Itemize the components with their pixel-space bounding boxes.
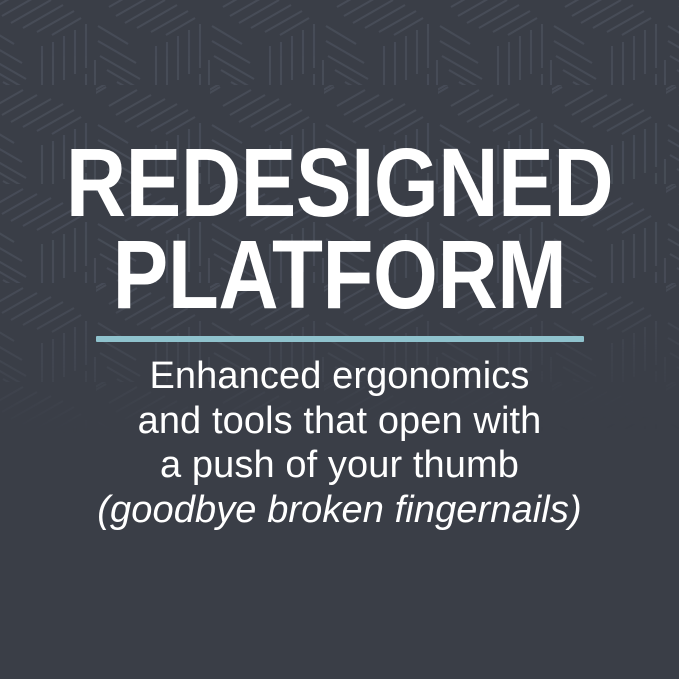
headline-line-1: REDESIGNED [48,138,632,228]
subtitle-line-4-parenthetical: (goodbye broken fingernails) [0,488,679,532]
headline-line-2: PLATFORM [48,230,632,320]
poster-content: REDESIGNED PLATFORM Enhanced ergonomics … [0,0,679,679]
promo-poster: REDESIGNED PLATFORM Enhanced ergonomics … [0,0,679,679]
subtitle-line-2: and tools that open with [0,399,679,443]
subtitle-line-1: Enhanced ergonomics [0,354,679,398]
subtitle-line-3: a push of your thumb [0,443,679,487]
subtitle-block: Enhanced ergonomics and tools that open … [0,354,679,532]
headline-block: REDESIGNED PLATFORM [0,138,679,320]
accent-divider [96,336,584,342]
